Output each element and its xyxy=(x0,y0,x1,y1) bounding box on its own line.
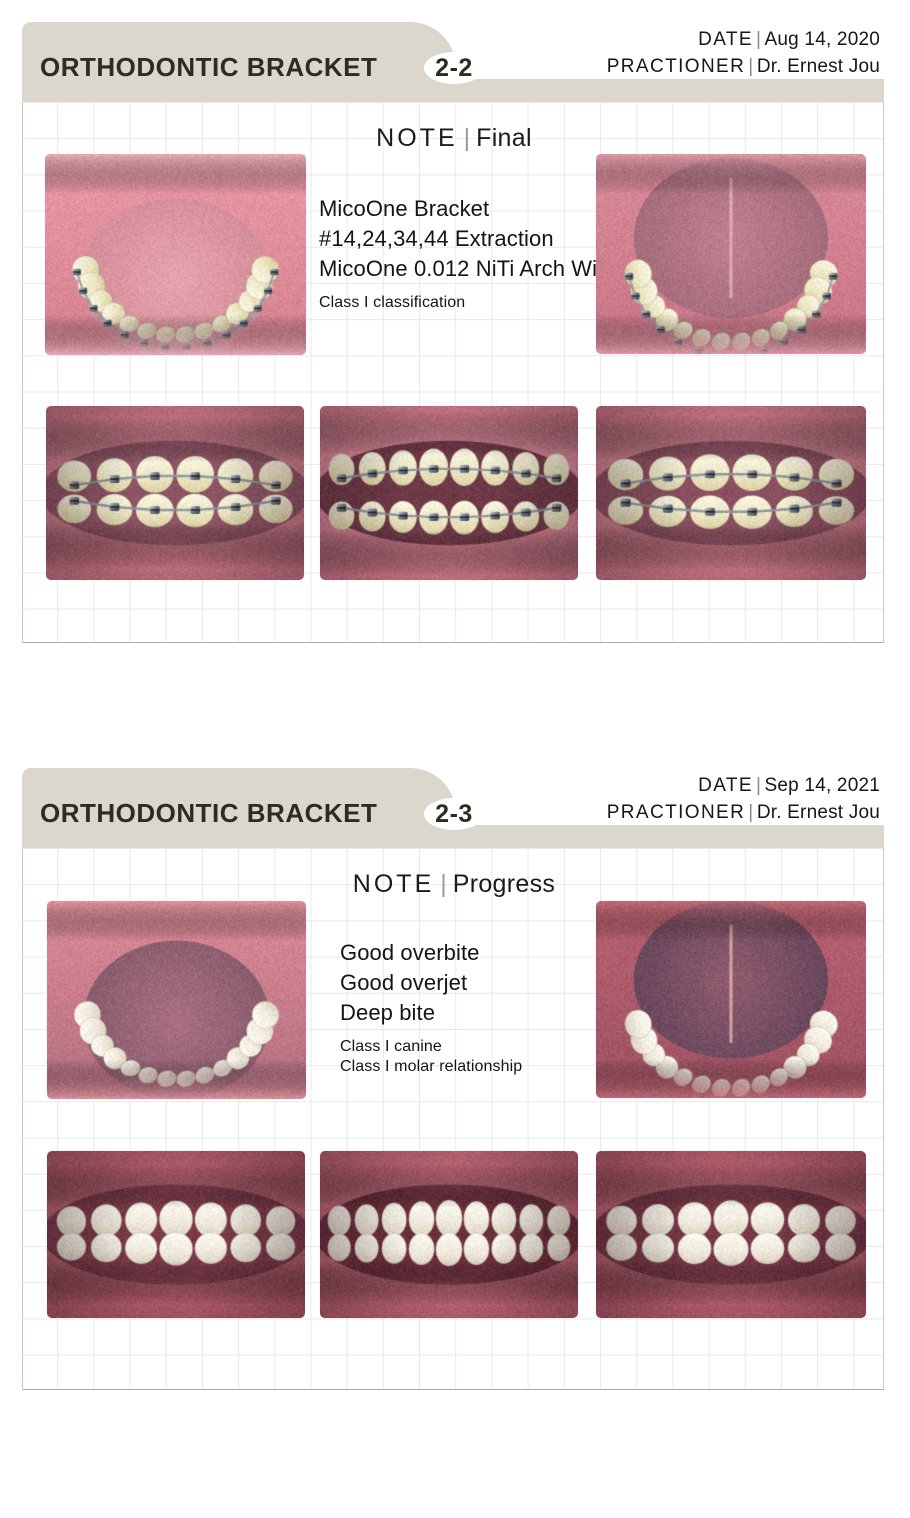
panel-header: ORTHODONTIC BRACKET 2-2 DATE|Aug 14, 202… xyxy=(22,22,884,102)
photo-left-buccal xyxy=(596,1151,866,1318)
note-line: MicoOne Bracket xyxy=(319,194,617,224)
note-subline: Class I canine xyxy=(340,1037,522,1057)
note-subline: Class I molar relationship xyxy=(340,1057,522,1077)
photo-frontal xyxy=(320,406,578,580)
note-line: Good overjet xyxy=(340,968,522,998)
photo-right-buccal xyxy=(46,406,304,580)
panel-body: NOTE|Progress Good overbite Good overjet… xyxy=(22,848,884,1390)
meta-separator: | xyxy=(753,775,765,796)
meta-practitioner-value: Dr. Ernest Jou xyxy=(757,56,880,77)
meta-practitioner-row: PRACTIONER|Dr. Ernest Jou xyxy=(607,800,880,827)
note-line: Good overbite xyxy=(340,938,522,968)
panel-badge: 2-3 xyxy=(424,798,484,830)
note-separator: | xyxy=(434,870,453,898)
note-line: #14,24,34,44 Extraction xyxy=(319,224,617,254)
photo-frontal xyxy=(320,1151,578,1318)
note-subline: Class I classification xyxy=(319,293,617,313)
photo-upper-occlusal xyxy=(47,901,306,1099)
panel-body: NOTE|Final MicoOne Bracket #14,24,34,44 … xyxy=(22,102,884,643)
photo-lower-occlusal xyxy=(596,154,866,354)
meta-practitioner-label: PRACTIONER xyxy=(607,56,746,77)
note-text-block: Good overbite Good overjet Deep bite Cla… xyxy=(340,938,522,1078)
header-meta: DATE|Sep 14, 2021 PRACTIONER|Dr. Ernest … xyxy=(607,773,880,827)
meta-practitioner-value: Dr. Ernest Jou xyxy=(757,802,880,823)
header-meta: DATE|Aug 14, 2020 PRACTIONER|Dr. Ernest … xyxy=(607,27,880,81)
note-heading: NOTE|Progress xyxy=(23,870,885,899)
photo-left-buccal xyxy=(596,406,866,580)
note-label: NOTE xyxy=(353,870,434,898)
meta-practitioner-row: PRACTIONER|Dr. Ernest Jou xyxy=(607,54,880,81)
panel-badge: 2-2 xyxy=(424,52,484,84)
note-line: MicoOne 0.012 NiTi Arch Wire xyxy=(319,254,617,284)
photo-lower-occlusal xyxy=(596,901,866,1098)
meta-date-row: DATE|Aug 14, 2020 xyxy=(607,27,880,54)
panel-card: ORTHODONTIC BRACKET 2-2 DATE|Aug 14, 202… xyxy=(22,22,884,643)
note-separator: | xyxy=(458,124,477,152)
meta-date-label: DATE xyxy=(698,775,753,796)
meta-date-row: DATE|Sep 14, 2021 xyxy=(607,773,880,800)
panel-title: ORTHODONTIC BRACKET xyxy=(40,52,377,83)
photo-right-buccal xyxy=(47,1151,305,1318)
meta-date-value: Sep 14, 2021 xyxy=(765,775,880,796)
meta-date-value: Aug 14, 2020 xyxy=(765,29,880,50)
meta-date-label: DATE xyxy=(698,29,753,50)
photo-upper-occlusal xyxy=(45,154,306,355)
meta-separator: | xyxy=(753,29,765,50)
panel-title: ORTHODONTIC BRACKET xyxy=(40,798,377,829)
panel-card: ORTHODONTIC BRACKET 2-3 DATE|Sep 14, 202… xyxy=(22,768,884,1390)
document-page: ORTHODONTIC BRACKET 2-2 DATE|Aug 14, 202… xyxy=(0,0,910,1518)
note-label: NOTE xyxy=(376,124,457,152)
note-heading: NOTE|Final xyxy=(23,124,885,153)
note-line: Deep bite xyxy=(340,998,522,1028)
meta-separator: | xyxy=(745,56,757,77)
note-value: Progress xyxy=(453,870,555,898)
note-spacer xyxy=(319,284,617,293)
meta-practitioner-label: PRACTIONER xyxy=(607,802,746,823)
note-text-block: MicoOne Bracket #14,24,34,44 Extraction … xyxy=(319,194,617,313)
note-value: Final xyxy=(476,124,532,152)
panel-header: ORTHODONTIC BRACKET 2-3 DATE|Sep 14, 202… xyxy=(22,768,884,848)
meta-separator: | xyxy=(745,802,757,823)
note-spacer xyxy=(340,1028,522,1037)
